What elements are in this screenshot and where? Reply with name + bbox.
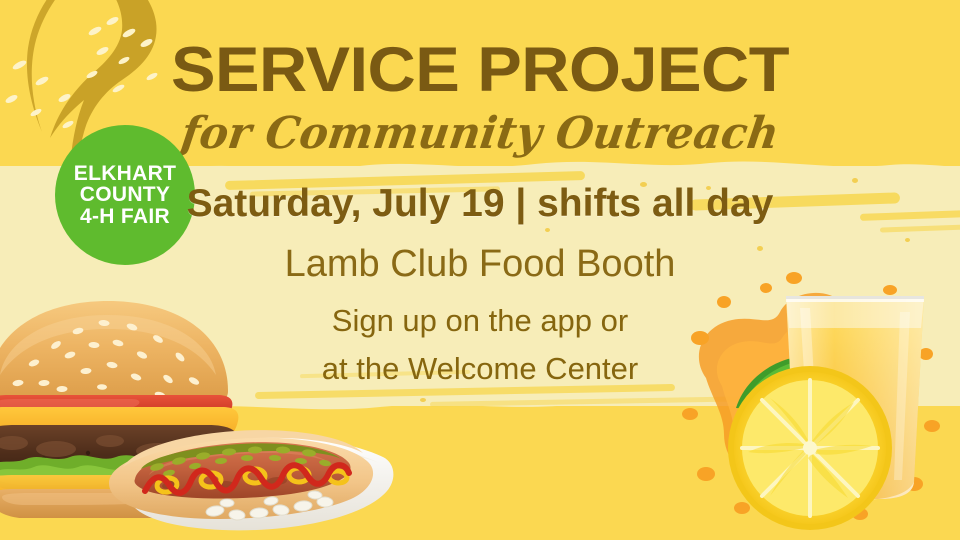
event-dateline: Saturday, July 19 | shifts all day [0,182,960,226]
brush-speck [420,398,426,402]
hot-dog-photo [95,405,405,540]
poster-canvas: SERVICE PROJECT for Community Outreach E… [0,0,960,540]
lemonade-glass-photo [676,268,960,540]
brush-speck [545,228,550,232]
brush-speck [905,238,910,242]
page-title: SERVICE PROJECT [0,34,960,106]
